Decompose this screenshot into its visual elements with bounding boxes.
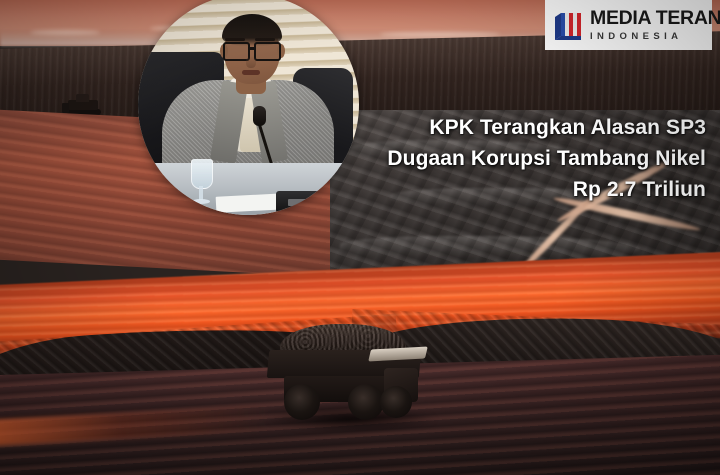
logo-title: MEDIA TERANG bbox=[590, 9, 720, 29]
logo-badge[interactable]: MEDIA TERANG INDONESIA bbox=[545, 0, 712, 50]
water-glass-icon bbox=[190, 159, 212, 207]
haul-dump-truck bbox=[262, 322, 438, 434]
headline-line-1: KPK Terangkan Alasan SP3 bbox=[360, 112, 706, 143]
news-card: KPK Terangkan Alasan SP3 Dugaan Korupsi … bbox=[0, 0, 720, 475]
headline: KPK Terangkan Alasan SP3 Dugaan Korupsi … bbox=[360, 112, 706, 205]
eyebrow bbox=[255, 38, 275, 41]
open-book-icon bbox=[552, 9, 585, 42]
conference-name-device bbox=[276, 191, 348, 213]
background-mine-scene bbox=[0, 0, 720, 475]
portrait-inset bbox=[138, 0, 359, 215]
truck-wheel bbox=[284, 384, 320, 420]
headline-line-2: Dugaan Korupsi Tambang Nikel bbox=[360, 143, 706, 174]
truck-wheel bbox=[380, 386, 412, 418]
eyebrow bbox=[225, 38, 245, 41]
headline-line-3: Rp 2.7 Triliun bbox=[360, 174, 706, 205]
nose bbox=[246, 56, 256, 68]
truck-wheel bbox=[348, 384, 384, 420]
microphone-icon bbox=[253, 106, 266, 126]
logo-wordmark: MEDIA TERANG INDONESIA bbox=[590, 9, 720, 41]
logo-subtitle: INDONESIA bbox=[590, 32, 720, 42]
mouth bbox=[242, 70, 260, 75]
